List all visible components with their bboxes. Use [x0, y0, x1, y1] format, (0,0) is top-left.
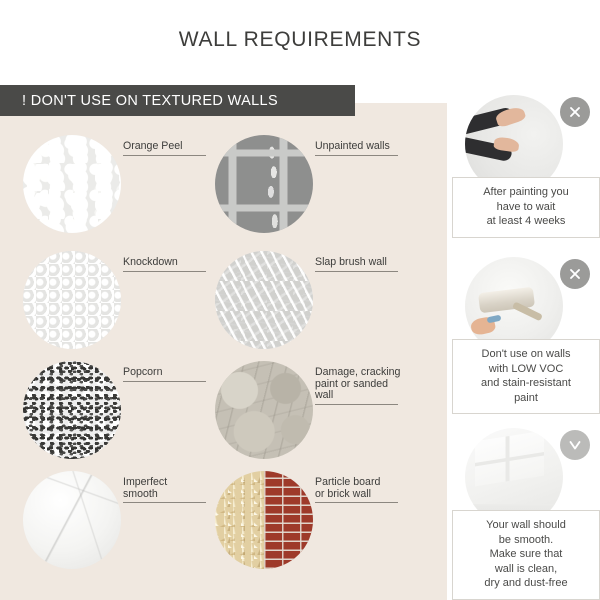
cross-icon	[560, 97, 590, 127]
swatch-slap-brush-wall: Slap brush wall	[215, 251, 408, 361]
swatch-label-damage-cracking: Damage, cracking paint or sanded wall	[315, 367, 407, 404]
swatch-label-wrap-unpainted-walls: Unpainted walls	[315, 141, 407, 156]
swatch-underline	[123, 502, 206, 503]
swatch-label-knockdown: Knockdown	[123, 257, 215, 271]
rule-textbox-wait-4-weeks: After painting you have to wait at least…	[452, 177, 600, 238]
check-icon	[560, 430, 590, 460]
cross-icon	[560, 259, 590, 289]
page-title: WALL REQUIREMENTS	[0, 28, 600, 52]
infographic-page: WALL REQUIREMENTS ! DON'T USE ON TEXTURE…	[0, 0, 600, 600]
swatch-underline	[315, 271, 398, 272]
swatch-imperfect-smooth: Imperfect smooth	[23, 471, 216, 581]
swatch-underline	[123, 271, 206, 272]
swatch-orange-peel: Orange Peel	[23, 135, 216, 245]
swatch-image-unpainted-walls	[215, 135, 313, 233]
rule-text-smooth-clean-wall: Your wall should be smooth. Make sure th…	[457, 518, 595, 591]
swatch-popcorn: Popcorn	[23, 361, 216, 471]
swatch-label-wrap-knockdown: Knockdown	[123, 257, 215, 272]
swatch-image-knockdown	[23, 251, 121, 349]
swatch-label-wrap-particle-brick: Particle board or brick wall	[315, 477, 407, 503]
swatch-unpainted-walls: Unpainted walls	[215, 135, 408, 245]
swatch-label-imperfect-smooth: Imperfect smooth	[123, 477, 215, 502]
swatch-label-wrap-orange-peel: Orange Peel	[123, 141, 215, 156]
swatch-damage-cracking: Damage, cracking paint or sanded wall	[215, 361, 408, 471]
swatch-image-imperfect-smooth	[23, 471, 121, 569]
swatch-label-slap-brush-wall: Slap brush wall	[315, 257, 407, 271]
swatch-label-wrap-popcorn: Popcorn	[123, 367, 215, 382]
swatch-underline	[123, 155, 206, 156]
rule-text-wait-4-weeks: After painting you have to wait at least…	[457, 185, 595, 229]
swatch-label-orange-peel: Orange Peel	[123, 141, 215, 155]
swatch-particle-brick: Particle board or brick wall	[215, 471, 408, 581]
swatch-label-wrap-damage-cracking: Damage, cracking paint or sanded wall	[315, 367, 407, 405]
swatch-underline	[315, 155, 398, 156]
rule-text-low-voc-paint: Don't use on walls with LOW VOC and stai…	[457, 347, 595, 405]
rule-textbox-smooth-clean-wall: Your wall should be smooth. Make sure th…	[452, 510, 600, 600]
swatch-underline	[123, 381, 206, 382]
texture-swatch-grid: Orange Peel Unpainted walls Knockdown	[0, 103, 447, 600]
swatch-image-slap-brush-wall	[215, 251, 313, 349]
swatch-image-damage-cracking	[215, 361, 313, 459]
swatch-image-orange-peel	[23, 135, 121, 233]
swatch-label-wrap-slap-brush-wall: Slap brush wall	[315, 257, 407, 272]
swatch-underline	[315, 404, 398, 405]
swatch-label-wrap-imperfect-smooth: Imperfect smooth	[123, 477, 215, 503]
swatch-label-unpainted-walls: Unpainted walls	[315, 141, 407, 155]
swatch-underline	[315, 502, 398, 503]
swatch-label-popcorn: Popcorn	[123, 367, 215, 381]
swatch-image-popcorn	[23, 361, 121, 459]
rules-column: After painting you have to wait at least…	[452, 95, 600, 600]
swatch-label-particle-brick: Particle board or brick wall	[315, 477, 407, 502]
swatch-knockdown: Knockdown	[23, 251, 216, 361]
rule-textbox-low-voc-paint: Don't use on walls with LOW VOC and stai…	[452, 339, 600, 414]
swatch-image-particle-brick	[215, 471, 313, 569]
